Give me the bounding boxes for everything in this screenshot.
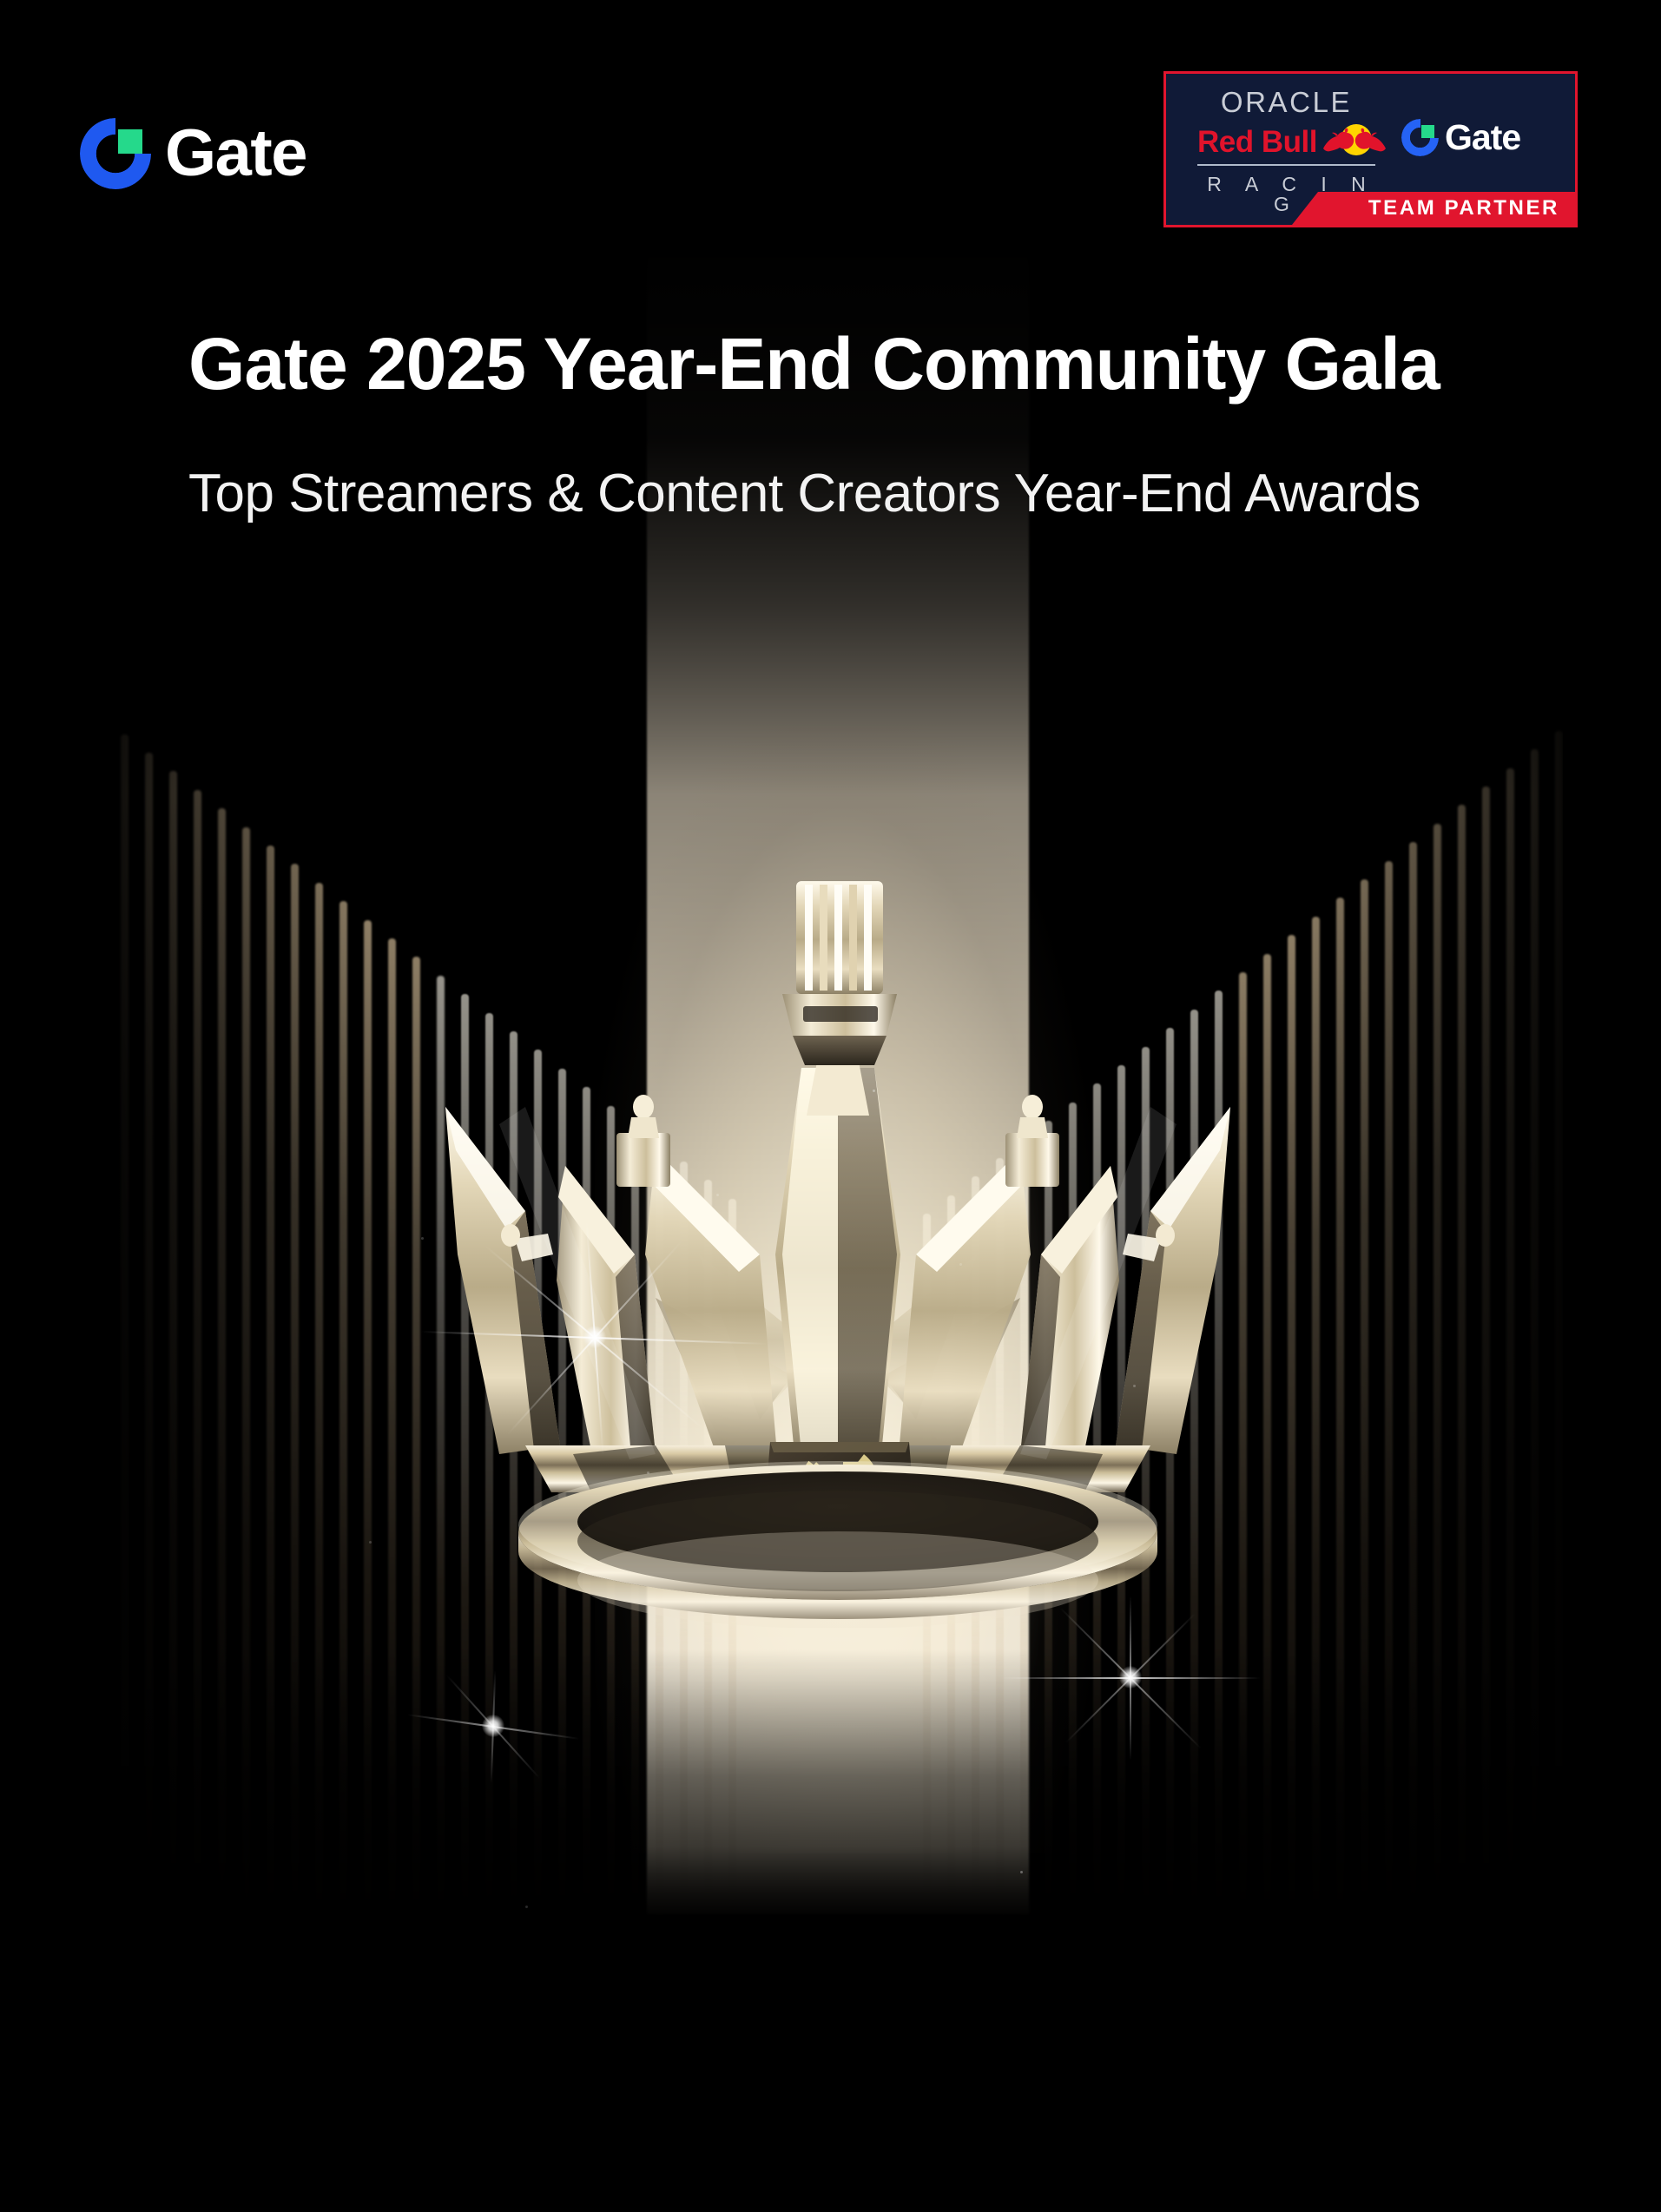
gate-logo-square [1421, 125, 1434, 138]
gate-wordmark: Gate [165, 121, 306, 187]
headline-block: Gate 2025 Year-End Community Gala Top St… [109, 239, 1563, 528]
bulls-silhouette [1322, 122, 1387, 161]
top-bar: Gate ORACLE Red Bull [0, 0, 1661, 239]
gate-brand-logo[interactable]: Gate [80, 118, 306, 189]
dust-mote [873, 1090, 875, 1092]
dust-mote [1133, 1385, 1136, 1387]
dust-mote [959, 1263, 962, 1266]
page-subtitle: Top Streamers & Content Creators Year-En… [188, 460, 1563, 528]
dust-mote [716, 1194, 719, 1196]
badge-gate-wordmark: Gate [1445, 120, 1520, 155]
badge-gate-logo: Gate [1401, 119, 1520, 156]
dust-mote [369, 1541, 372, 1544]
dust-mote [1020, 1871, 1023, 1873]
crown-trophy [395, 846, 1281, 1628]
dust-mote [525, 1906, 528, 1908]
team-partner-banner: TEAM PARTNER [1292, 192, 1575, 225]
red-bull-row: Red Bull [1197, 122, 1375, 161]
gate-logo-icon [1401, 119, 1439, 156]
red-bull-wordmark: Red Bull [1197, 127, 1317, 157]
dust-mote [1220, 1159, 1223, 1162]
crown-illustration [395, 846, 1281, 1628]
dust-mote [647, 1471, 649, 1474]
red-bull-charging-bulls-icon [1322, 122, 1387, 161]
oracle-red-bull-racing-partner-badge[interactable]: ORACLE Red Bull R A C I N [1163, 71, 1578, 227]
dust-mote [421, 1237, 424, 1240]
team-partner-label: TEAM PARTNER [1368, 198, 1559, 219]
gate-logo-square [118, 129, 142, 154]
page-title: Gate 2025 Year-End Community Gala [188, 319, 1563, 408]
badge-divider [1197, 164, 1375, 166]
content-card: Gate 2025 Year-End Community Gala Top St… [109, 239, 1563, 2014]
hero-bottom-fade [109, 1649, 1563, 2014]
oracle-wordmark: ORACLE [1197, 88, 1375, 116]
gate-logo-icon [80, 118, 151, 189]
